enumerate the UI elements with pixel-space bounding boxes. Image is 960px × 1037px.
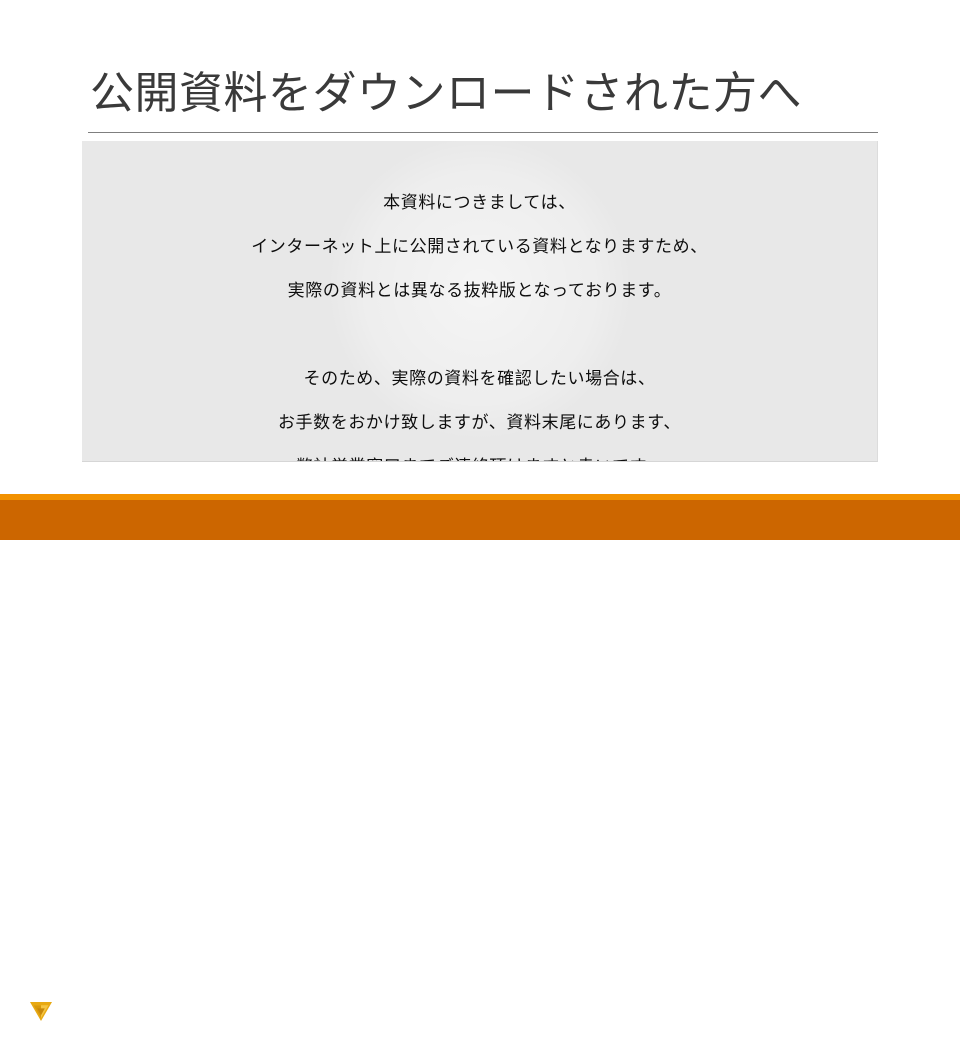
body-text-block: 本資料につきましては、 インターネット上に公開されている資料となりますため、 実…: [82, 181, 877, 462]
company-logo: VICENT: [14, 1001, 84, 1037]
copyright-text: ©2022 VICENT CO., LTD.: [0, 1012, 960, 1019]
page-number: 2: [860, 1012, 886, 1022]
paragraph-spacer: [82, 313, 877, 357]
content-panel: 本資料につきましては、 インターネット上に公開されている資料となりますため、 実…: [82, 141, 878, 462]
logo-wordmark: VICENT: [14, 1020, 84, 1034]
slide: 公開資料をダウンロードされた方へ 本資料につきましては、 インターネット上に公開…: [0, 0, 960, 540]
body-line: 実際の資料とは異なる抜粋版となっております。: [82, 269, 877, 313]
body-line: お手数をおかけ致しますが、資料末尾にあります、: [82, 401, 877, 445]
body-line: 弊社営業窓口までご連絡頂けますと幸いです。: [82, 445, 877, 462]
body-line: インターネット上に公開されている資料となりますため、: [82, 225, 877, 269]
body-line: そのため、実際の資料を確認したい場合は、: [82, 357, 877, 401]
page-title: 公開資料をダウンロードされた方へ: [90, 68, 890, 120]
body-line: 本資料につきましては、: [82, 181, 877, 225]
footer-band: VICENT ©2022 VICENT CO., LTD. 2: [0, 500, 960, 540]
title-divider: [88, 132, 878, 133]
